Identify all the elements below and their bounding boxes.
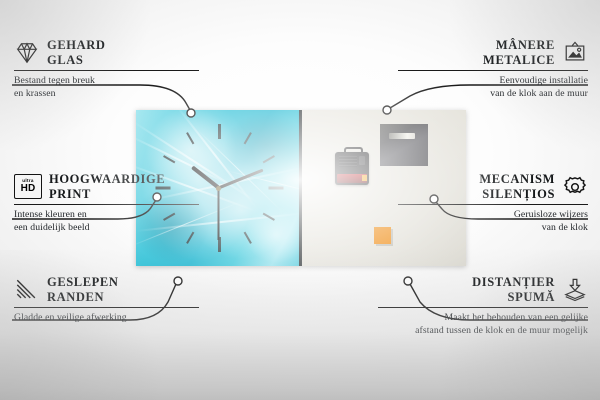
callout-gehard-glas: GEHARD GLAS Bestand tegen breuk en krass… [14, 38, 199, 100]
ultra-hd-icon: ultra HD [14, 174, 42, 199]
callout-rule [398, 70, 588, 71]
spacer-layers-icon [562, 278, 588, 302]
clock-tick [243, 132, 251, 144]
callout-title: MECANISM SILENȚIOS [479, 172, 555, 201]
callout-header: MECANISM SILENȚIOS [398, 172, 588, 201]
callout-rule [14, 307, 199, 308]
clock-tick [163, 155, 175, 163]
clock-tick [186, 132, 194, 144]
callout-rule [14, 204, 199, 205]
callout-mecanism-silentios: MECANISM SILENȚIOS Geruisloze wijzers va… [398, 172, 588, 234]
clock-tick [268, 187, 283, 190]
hanger-slot [389, 133, 415, 139]
callout-header: GEHARD GLAS [14, 38, 199, 67]
callout-desc-line2: een duidelijk beeld [14, 222, 199, 235]
callout-desc-line1: Gladde en veilige afwerking [14, 312, 199, 325]
clock-tick [243, 232, 251, 244]
callout-distantier-spuma: DISTANȚIER SPUMĂ Maakt het behouden van … [378, 275, 588, 337]
callout-header: DISTANȚIER SPUMĂ [378, 275, 588, 304]
clock-hub-cap [216, 186, 221, 191]
foam-spacer-pad [374, 227, 391, 244]
callout-header: MÂNERE METALICE [398, 38, 588, 67]
corner-shade-bottom-left [0, 250, 180, 400]
callout-desc-line1: Intense kleuren en [14, 209, 199, 222]
clock-tick [262, 213, 274, 221]
ultra-hd-icon-main-text: HD [21, 184, 36, 194]
callout-hoogwaardige-print: ultra HD HOOGWAARDIGE PRINT Intense kleu… [14, 172, 199, 234]
metal-hanger-plate [380, 124, 428, 166]
callout-rule [398, 204, 588, 205]
callout-title: GEHARD GLAS [47, 38, 105, 67]
callout-desc-line1: Eenvoudige installatie [398, 75, 588, 88]
callout-title: MÂNERE METALICE [483, 38, 555, 67]
mechanism-hanger-tab [344, 147, 363, 156]
beveled-edge-icon [14, 278, 40, 302]
callout-desc-line2: afstand tussen de klok en de muur mogeli… [378, 325, 588, 338]
callout-desc-line2: van de klok [398, 222, 588, 235]
callout-manere-metalice: MÂNERE METALICE Eenvoudige installatie v… [398, 38, 588, 100]
mechanism-knob [359, 156, 365, 165]
infographic-canvas: GEHARD GLAS Bestand tegen breuk en krass… [0, 0, 600, 400]
callout-rule [14, 70, 199, 71]
callout-header: GESLEPEN RANDEN [14, 275, 199, 304]
mechanism-grill [339, 156, 357, 167]
battery-tip [362, 175, 367, 181]
gear-icon [562, 175, 588, 199]
callout-rule [378, 307, 588, 308]
clock-tick [218, 124, 221, 139]
callout-desc-line1: Maakt het behouden van een gelijke [378, 312, 588, 325]
callout-title: GESLEPEN RANDEN [47, 275, 119, 304]
callout-title: DISTANȚIER SPUMĂ [472, 275, 555, 304]
silent-mechanism-box [335, 152, 369, 185]
clock-tick [262, 155, 274, 163]
callout-desc-line1: Bestand tegen breuk [14, 75, 199, 88]
battery [337, 174, 367, 183]
diamond-icon [14, 41, 40, 65]
callout-title: HOOGWAARDIGE PRINT [49, 172, 165, 201]
callout-desc-line2: en krassen [14, 88, 199, 101]
picture-hanger-icon [562, 41, 588, 65]
callout-header: ultra HD HOOGWAARDIGE PRINT [14, 172, 199, 201]
second-hand [218, 188, 220, 240]
callout-desc-line1: Geruisloze wijzers [398, 209, 588, 222]
callout-desc-line2: van de klok aan de muur [398, 88, 588, 101]
callout-geslepen-randen: GESLEPEN RANDEN Gladde en veilige afwerk… [14, 275, 199, 325]
